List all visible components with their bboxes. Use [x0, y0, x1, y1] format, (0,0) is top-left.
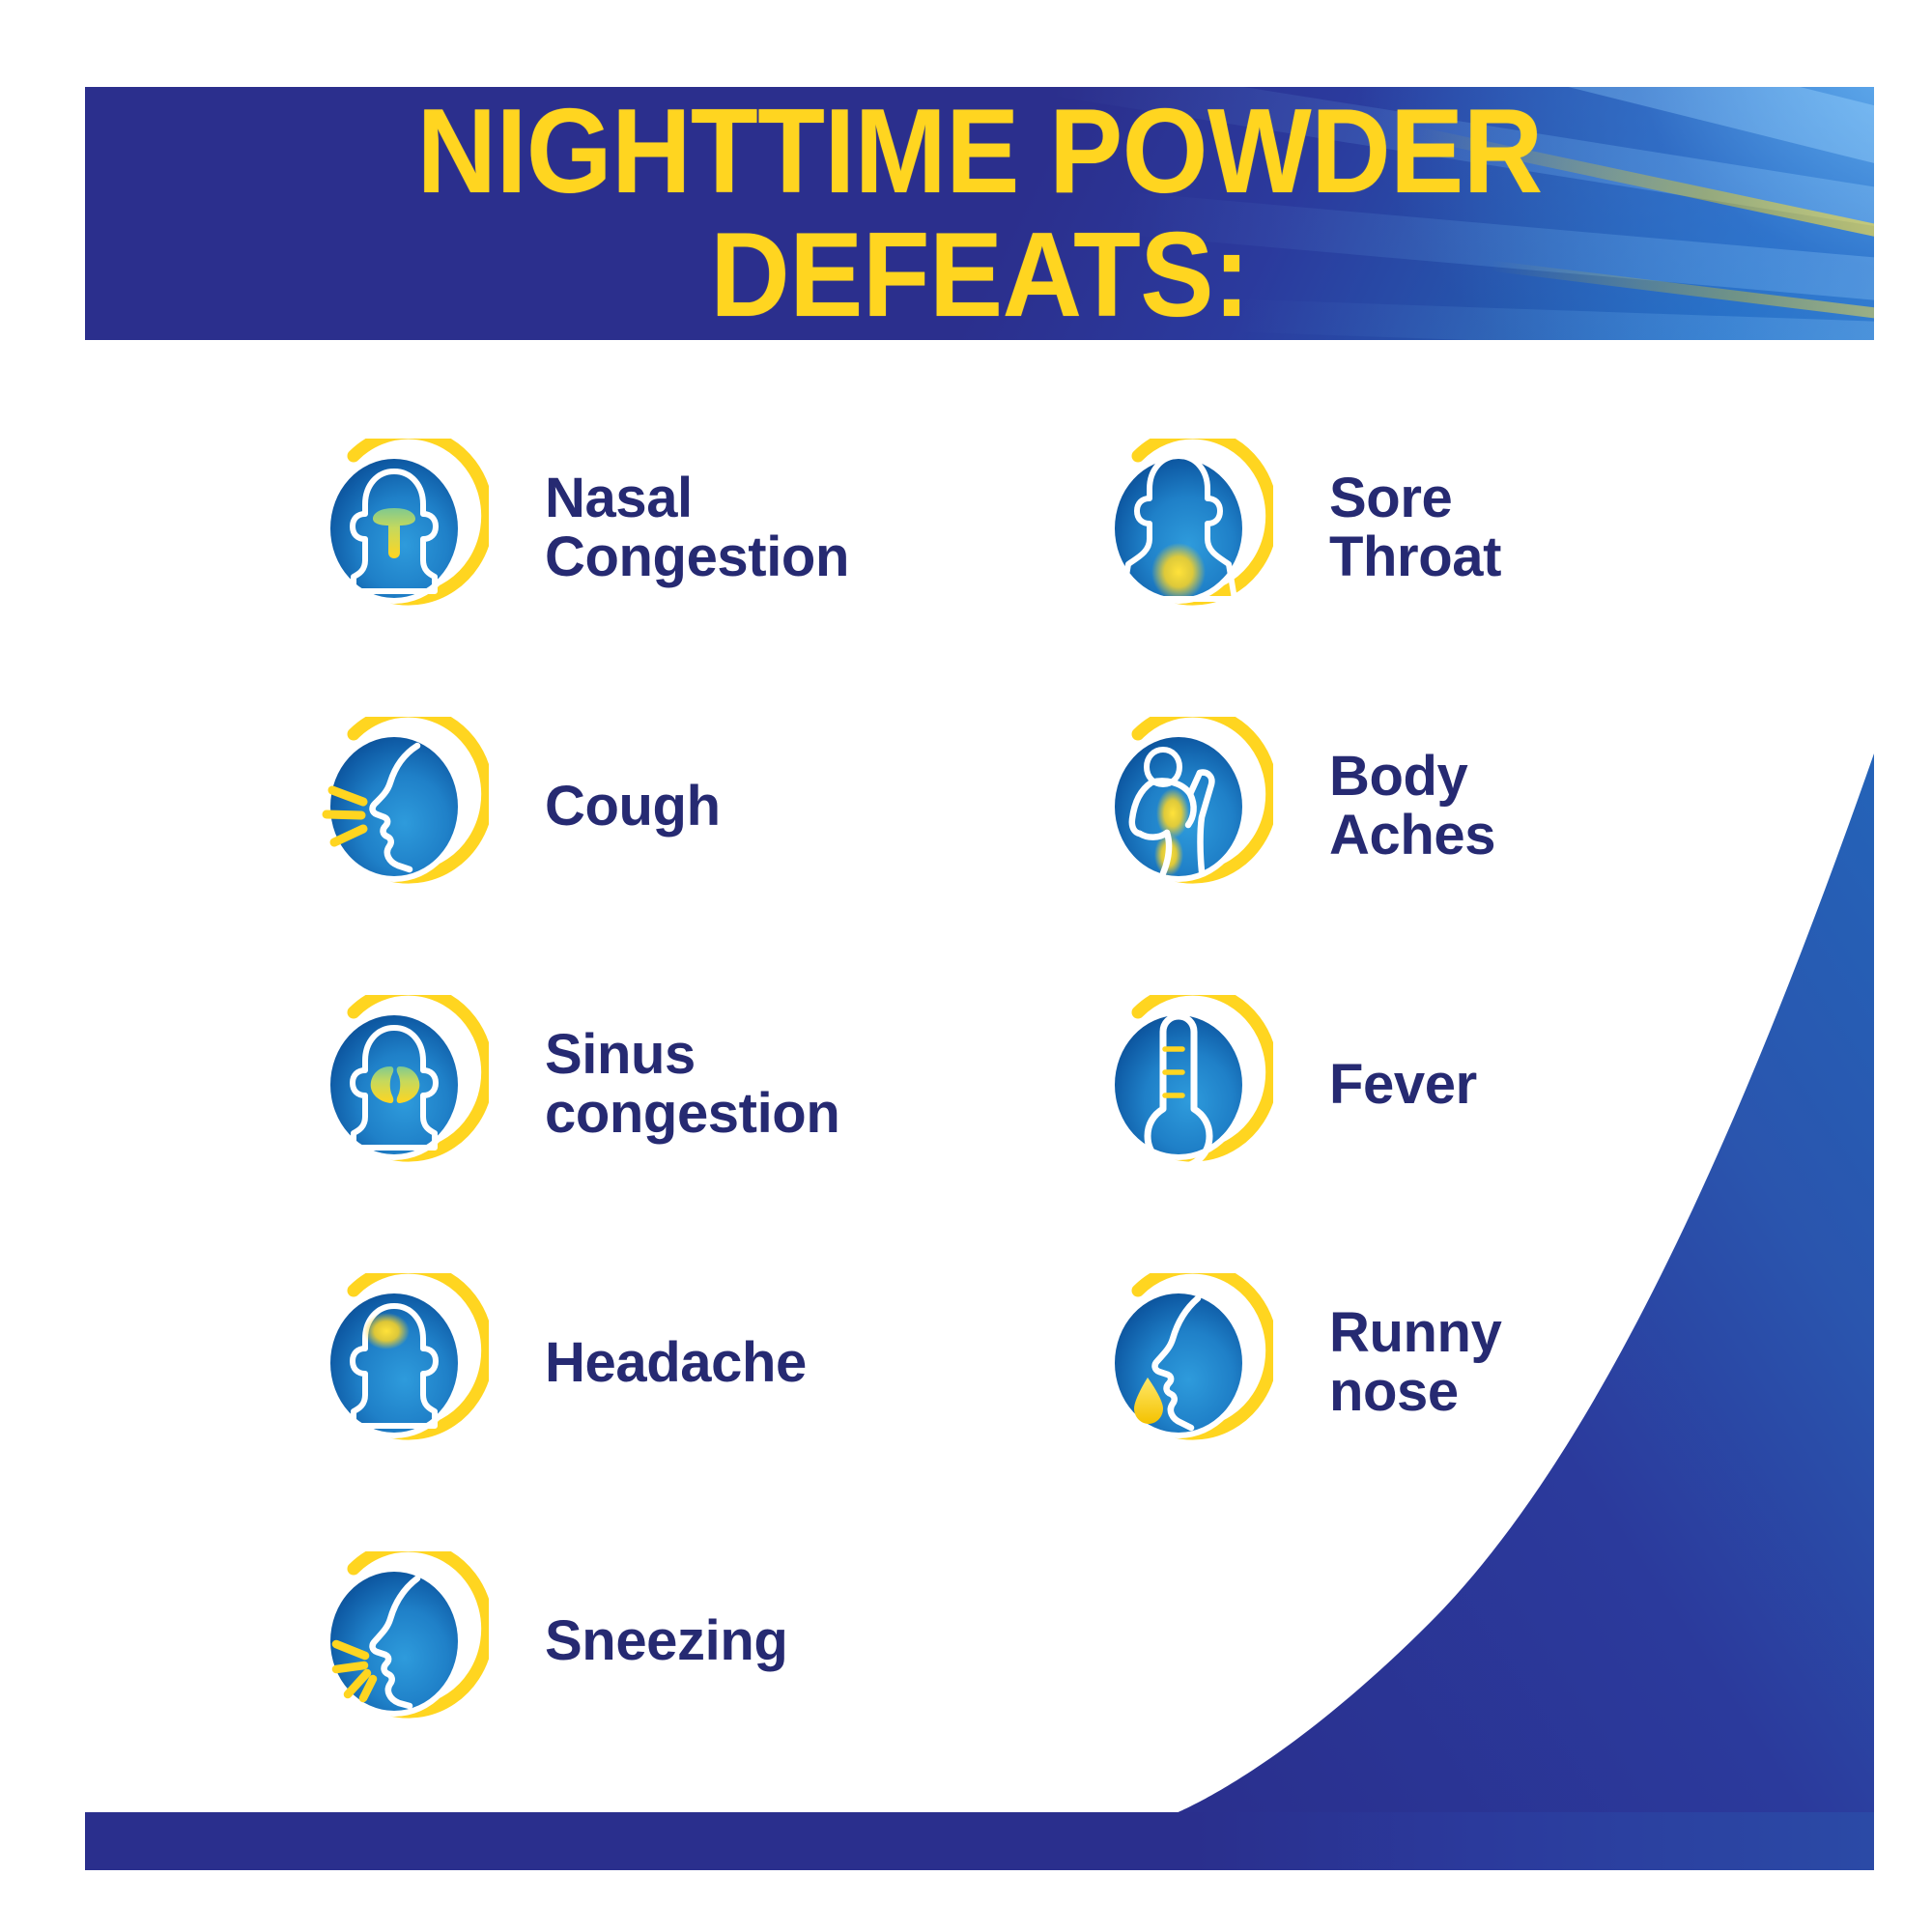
symptom-label: Body Aches	[1329, 748, 1495, 866]
page-title: NIGHTTIME POWDER DEFEATS:	[85, 87, 1874, 340]
header-title-line-2: DEFEATS:	[710, 217, 1249, 333]
sore-throat-icon	[1094, 439, 1273, 618]
symptom-row[interactable]: Body Aches	[1094, 715, 1495, 898]
symptom-label: Fever	[1329, 1056, 1477, 1115]
symptom-row[interactable]: Sneezing	[309, 1549, 787, 1733]
symptom-label: Sinus congestion	[545, 1026, 839, 1144]
header-banner: NIGHTTIME POWDER DEFEATS:	[85, 87, 1874, 340]
symptom-label: Nasal Congestion	[545, 469, 849, 587]
sneezing-icon	[309, 1551, 489, 1731]
nasal-congestion-icon	[309, 439, 489, 618]
runny-nose-icon	[1094, 1273, 1273, 1453]
symptom-label: Cough	[545, 778, 721, 837]
headache-icon	[309, 1273, 489, 1453]
infographic-page: NIGHTTIME POWDER DEFEATS:	[0, 0, 1932, 1932]
symptom-label: Runny nose	[1329, 1304, 1501, 1422]
symptom-row[interactable]: Headache	[309, 1271, 807, 1455]
symptom-label: Sore Throat	[1329, 469, 1501, 587]
symptom-label: Sneezing	[545, 1612, 787, 1671]
fever-icon	[1094, 995, 1273, 1175]
symptom-row[interactable]: Runny nose	[1094, 1271, 1501, 1455]
symptom-row[interactable]: Cough	[309, 715, 721, 898]
header-title-line-1: NIGHTTIME POWDER	[416, 94, 1542, 210]
bottom-bar	[85, 1812, 1874, 1870]
symptom-row[interactable]: Sinus congestion	[309, 993, 839, 1177]
symptom-row[interactable]: Fever	[1094, 993, 1477, 1177]
sinus-congestion-icon	[309, 995, 489, 1175]
body-aches-icon	[1094, 717, 1273, 896]
symptom-row[interactable]: Nasal Congestion	[309, 437, 849, 620]
symptom-grid: Nasal Congestion	[0, 425, 1932, 1797]
symptom-label: Headache	[545, 1334, 807, 1393]
symptom-row[interactable]: Sore Throat	[1094, 437, 1501, 620]
cough-icon	[309, 717, 489, 896]
